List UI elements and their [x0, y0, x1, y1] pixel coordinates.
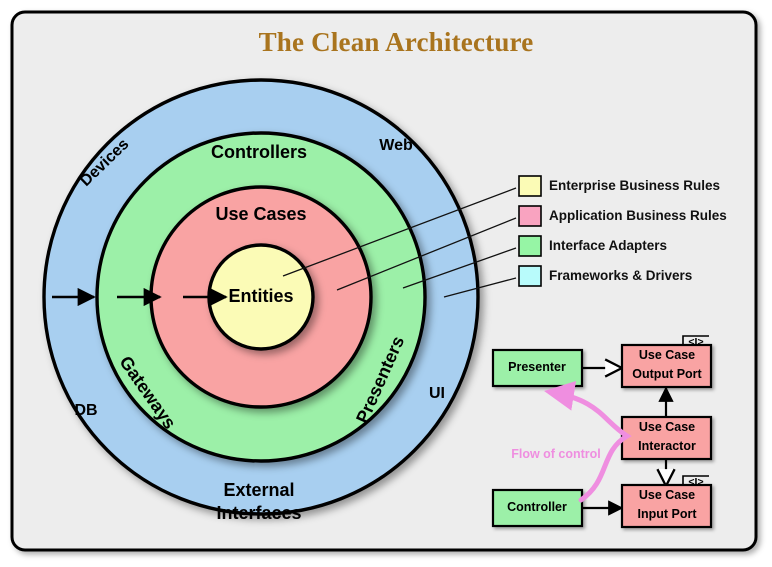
label-controllers: Controllers — [211, 143, 307, 163]
label-ui: UI — [429, 385, 445, 403]
uml-label-use-case-input-port-line2: Input Port — [637, 508, 696, 522]
uml-label-presenter: Presenter — [508, 361, 566, 375]
label-entities: Entities — [228, 287, 293, 307]
legend-swatch-frameworks — [519, 266, 541, 286]
stereotype-label-output-port: <I> — [688, 337, 703, 349]
uml-label-use-case-output-port-line1: Use Case — [639, 349, 695, 363]
label-external-interfaces-line1: External — [223, 481, 294, 501]
legend-swatch-enterprise — [519, 176, 541, 196]
uml-label-controller: Controller — [507, 501, 567, 515]
legend-label-interface-adapters: Interface Adapters — [549, 239, 667, 254]
diagram-stage: The Clean Architecture Entities Use Case… — [0, 0, 772, 567]
legend-swatch-application — [519, 206, 541, 226]
label-web: Web — [379, 137, 412, 155]
uml-label-use-case-interactor-line2: Interactor — [638, 440, 696, 454]
label-use-cases: Use Cases — [215, 205, 306, 225]
label-db: DB — [74, 402, 97, 420]
page-title: The Clean Architecture — [259, 28, 534, 58]
uml-label-use-case-interactor-line1: Use Case — [639, 421, 695, 435]
legend-swatch-adapters — [519, 236, 541, 256]
legend-label-application-business-rules: Application Business Rules — [549, 209, 727, 224]
legend-label-enterprise-business-rules: Enterprise Business Rules — [549, 179, 720, 194]
uml-label-use-case-output-port-line2: Output Port — [632, 368, 701, 382]
label-external-interfaces-line2: Interfaces — [216, 504, 301, 524]
uml-label-use-case-input-port-line1: Use Case — [639, 489, 695, 503]
flow-of-control-label: Flow of control — [511, 448, 601, 462]
stereotype-label-input-port: <I> — [688, 477, 703, 489]
legend-label-frameworks-drivers: Frameworks & Drivers — [549, 269, 692, 284]
